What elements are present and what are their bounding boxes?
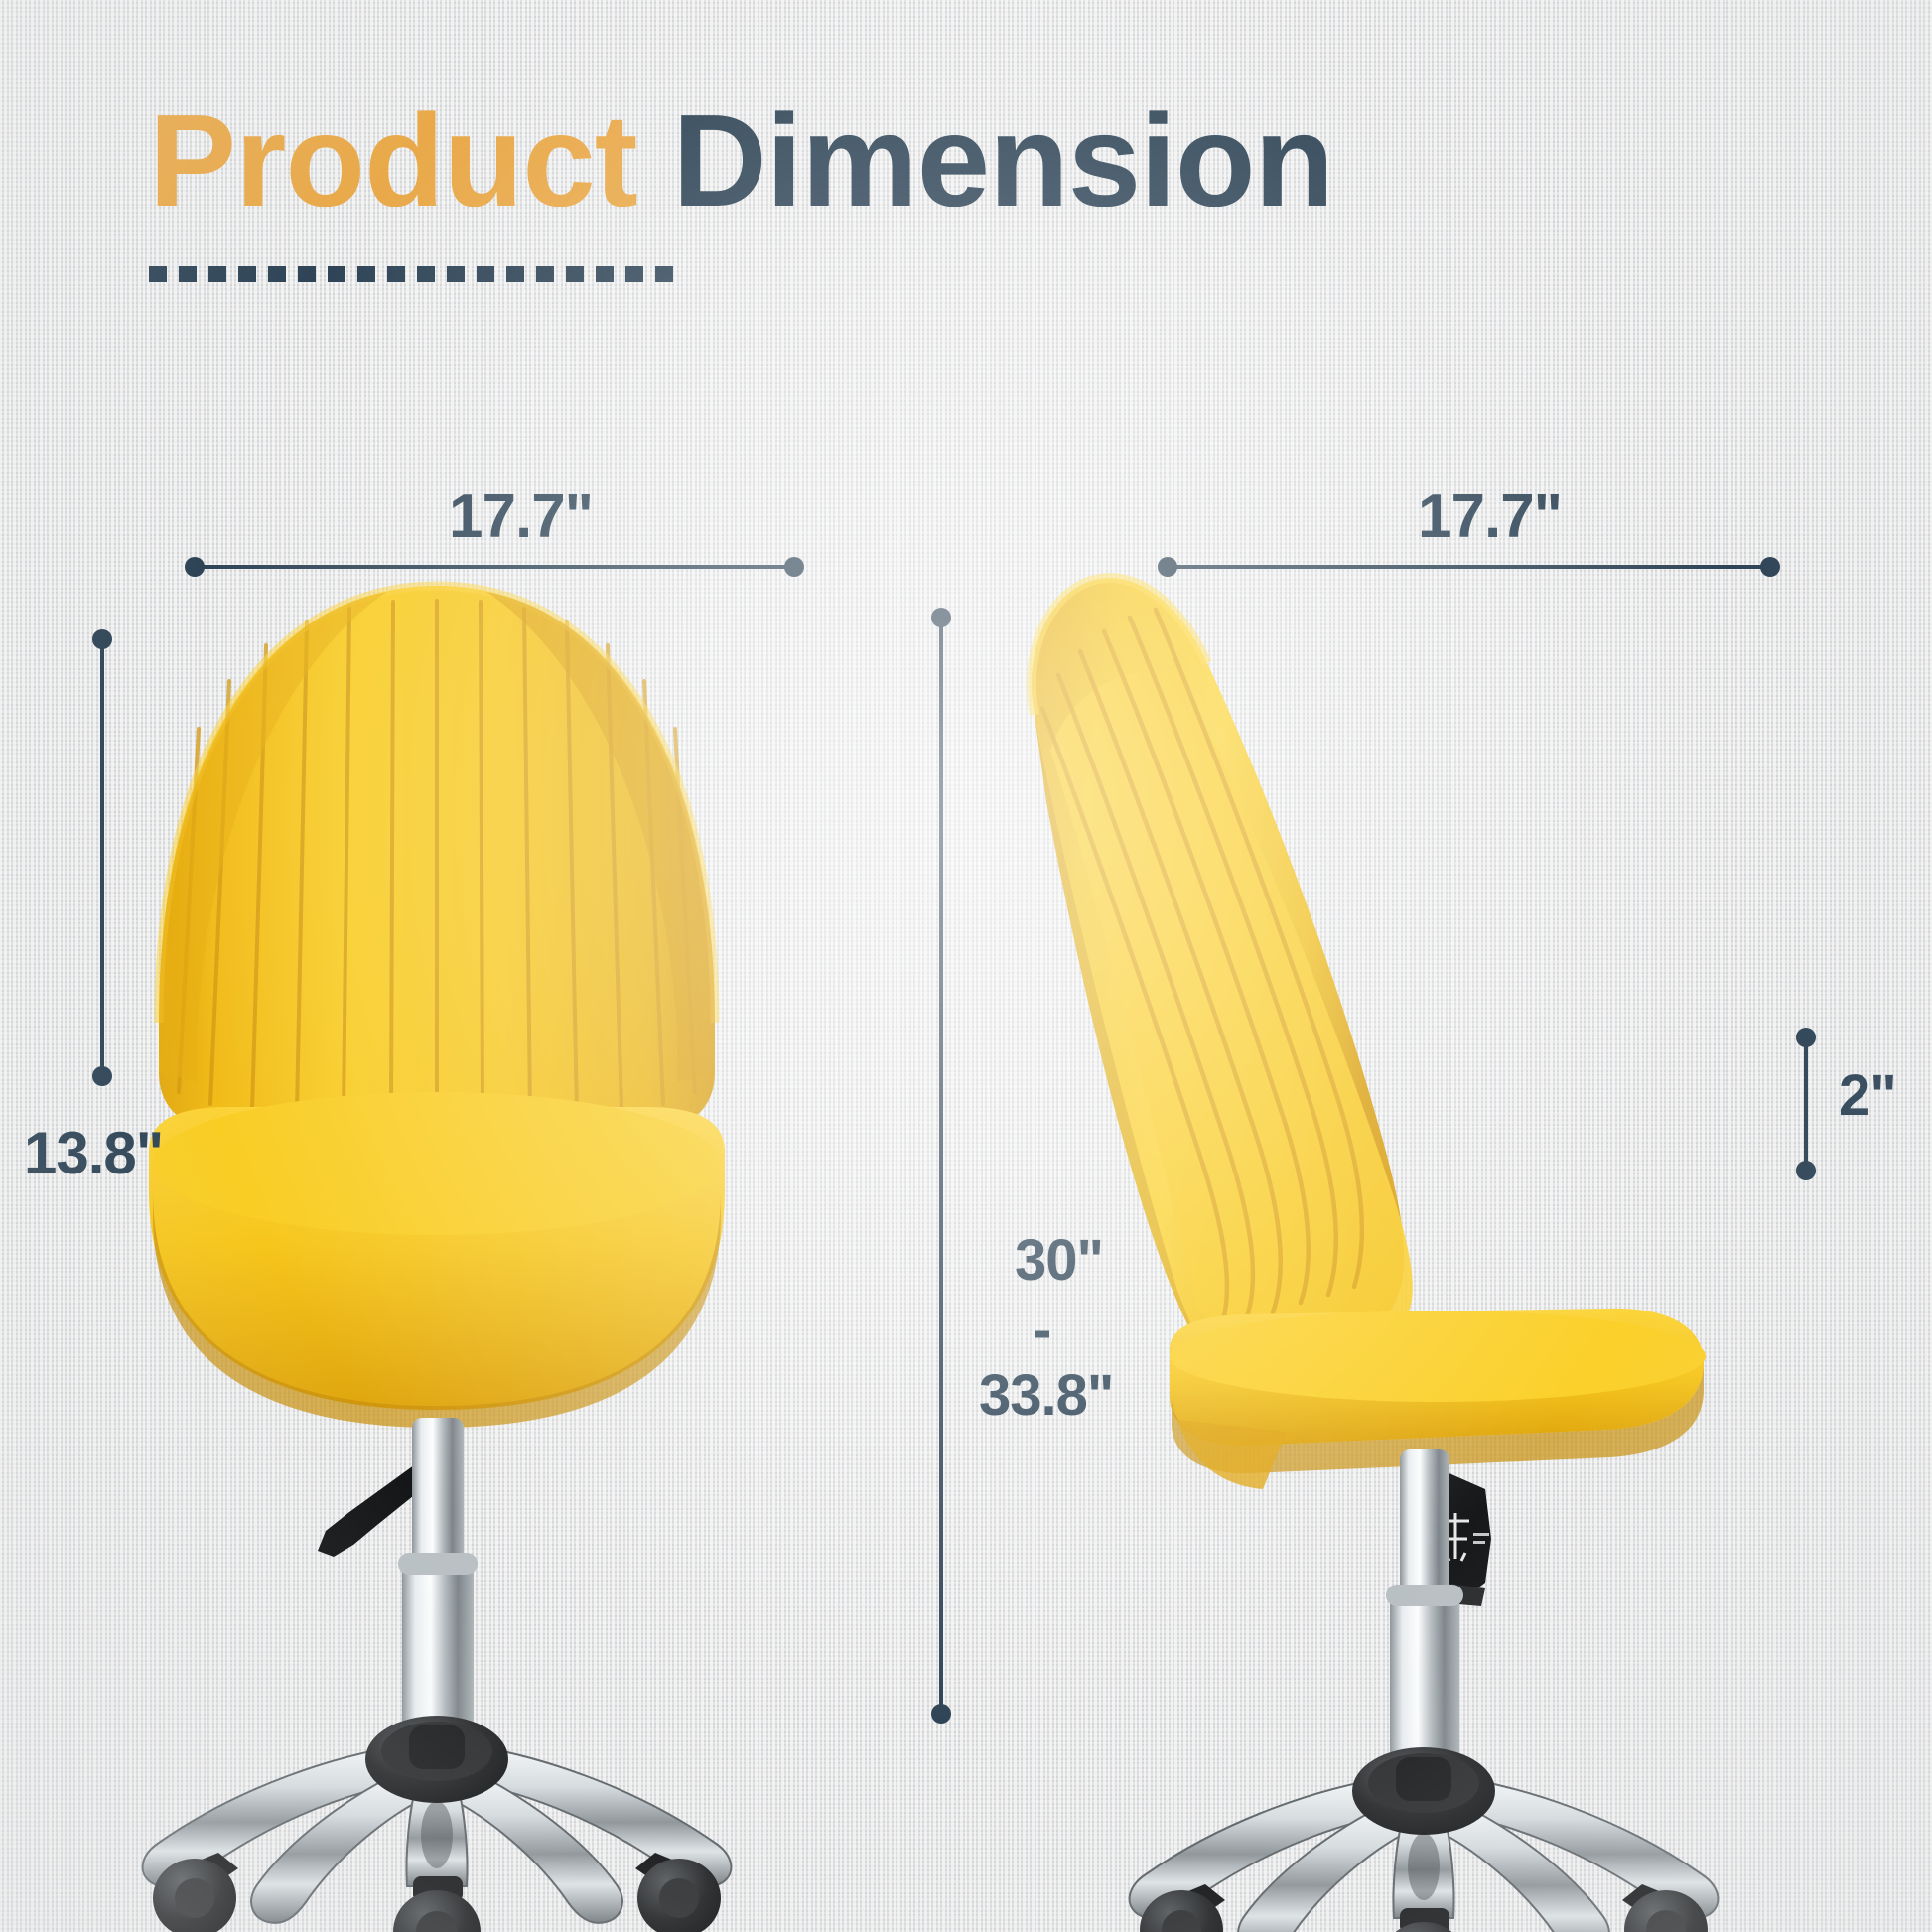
front-seat-height-dot-top xyxy=(92,629,112,649)
front-width-label: 17.7" xyxy=(449,483,593,551)
side-depth-label: 17.7" xyxy=(1418,483,1562,551)
side-seat-thickness-label: 2" xyxy=(1839,1064,1896,1129)
side-view-chair xyxy=(1003,556,1737,1926)
side-depth-line xyxy=(1167,565,1770,569)
title-dashed-underline xyxy=(149,266,681,282)
front-seat-height-line xyxy=(100,638,104,1075)
side-total-height-line xyxy=(939,617,943,1713)
front-seat-height-label: 13.8" xyxy=(24,1120,163,1186)
side-seat-thickness-dot-bottom xyxy=(1796,1161,1816,1180)
side-seat-thickness-dot-top xyxy=(1796,1028,1816,1047)
front-width-dot-right xyxy=(784,557,804,577)
front-seat-height-dot-bottom xyxy=(92,1066,112,1086)
side-total-height-label-min: 30" xyxy=(1015,1229,1103,1294)
front-view-chair xyxy=(89,556,784,1886)
side-depth-dot-left xyxy=(1158,557,1177,577)
title-word-accent: Product xyxy=(149,87,637,233)
front-width-dot-left xyxy=(185,557,205,577)
infographic-canvas: Product Dimension xyxy=(0,0,1932,1932)
page-title: Product Dimension xyxy=(149,95,1333,226)
side-depth-dot-right xyxy=(1760,557,1780,577)
side-total-height-dot-top xyxy=(931,608,951,627)
side-seat-thickness-line xyxy=(1804,1036,1808,1170)
side-total-height-dot-bottom xyxy=(931,1704,951,1724)
title-word-main: Dimension xyxy=(637,87,1333,233)
side-total-height-label-max: 33.8" xyxy=(979,1364,1113,1429)
front-width-line xyxy=(194,565,794,569)
side-total-height-label-separator: - xyxy=(1033,1299,1050,1363)
